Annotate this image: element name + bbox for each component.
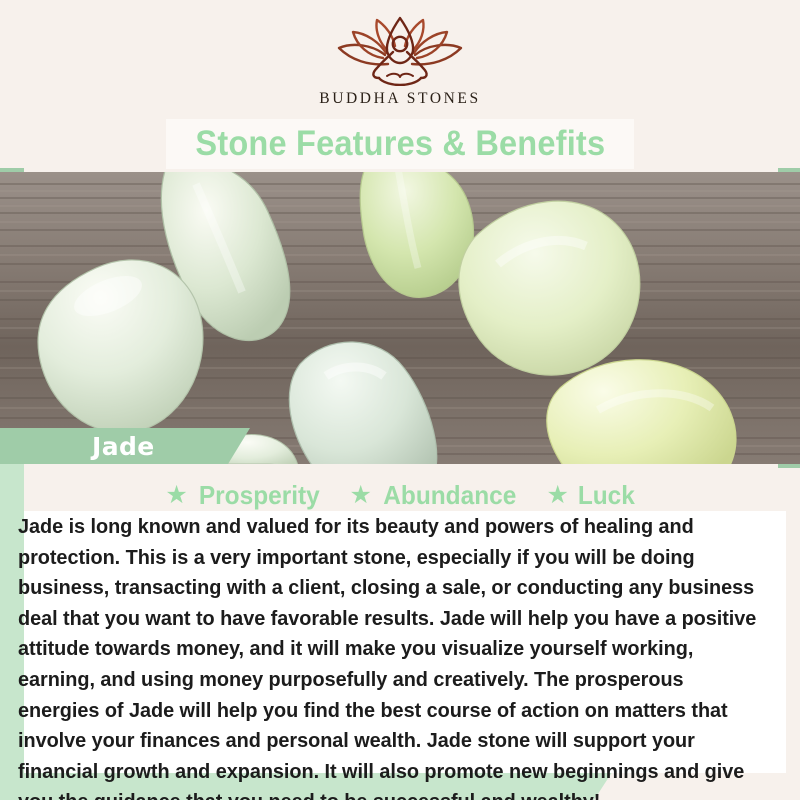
title-banner: Stone Features & Benefits — [166, 119, 634, 169]
stone-photo — [0, 172, 800, 464]
benefit-item-abundance: ★ Abundance — [349, 480, 520, 511]
stone-name-badge: Jade — [0, 428, 250, 464]
benefits-row: ★ Prosperity ★ Abundance ★ Luck — [24, 479, 778, 511]
stone-photo-illustration — [0, 172, 800, 464]
star-icon: ★ — [165, 483, 187, 508]
benefit-label: Abundance — [383, 480, 516, 511]
brand-name: BUDDHA STONES — [319, 90, 480, 108]
star-icon: ★ — [349, 483, 371, 508]
description-text: Jade is long known and valued for its be… — [18, 512, 759, 800]
star-icon: ★ — [546, 483, 568, 508]
benefit-label: Luck — [578, 480, 635, 511]
benefit-item-luck: ★ Luck — [546, 480, 636, 511]
brand-logo: BUDDHA STONES — [0, 14, 800, 108]
stone-info-poster: BUDDHA STONES Stone Features & Benefits — [0, 0, 800, 800]
stone-name: Jade — [92, 432, 155, 461]
lotus-meditation-icon — [325, 14, 475, 86]
benefit-label: Prosperity — [199, 480, 320, 511]
page-title: Stone Features & Benefits — [195, 124, 605, 164]
benefit-item-prosperity: ★ Prosperity — [165, 480, 323, 511]
